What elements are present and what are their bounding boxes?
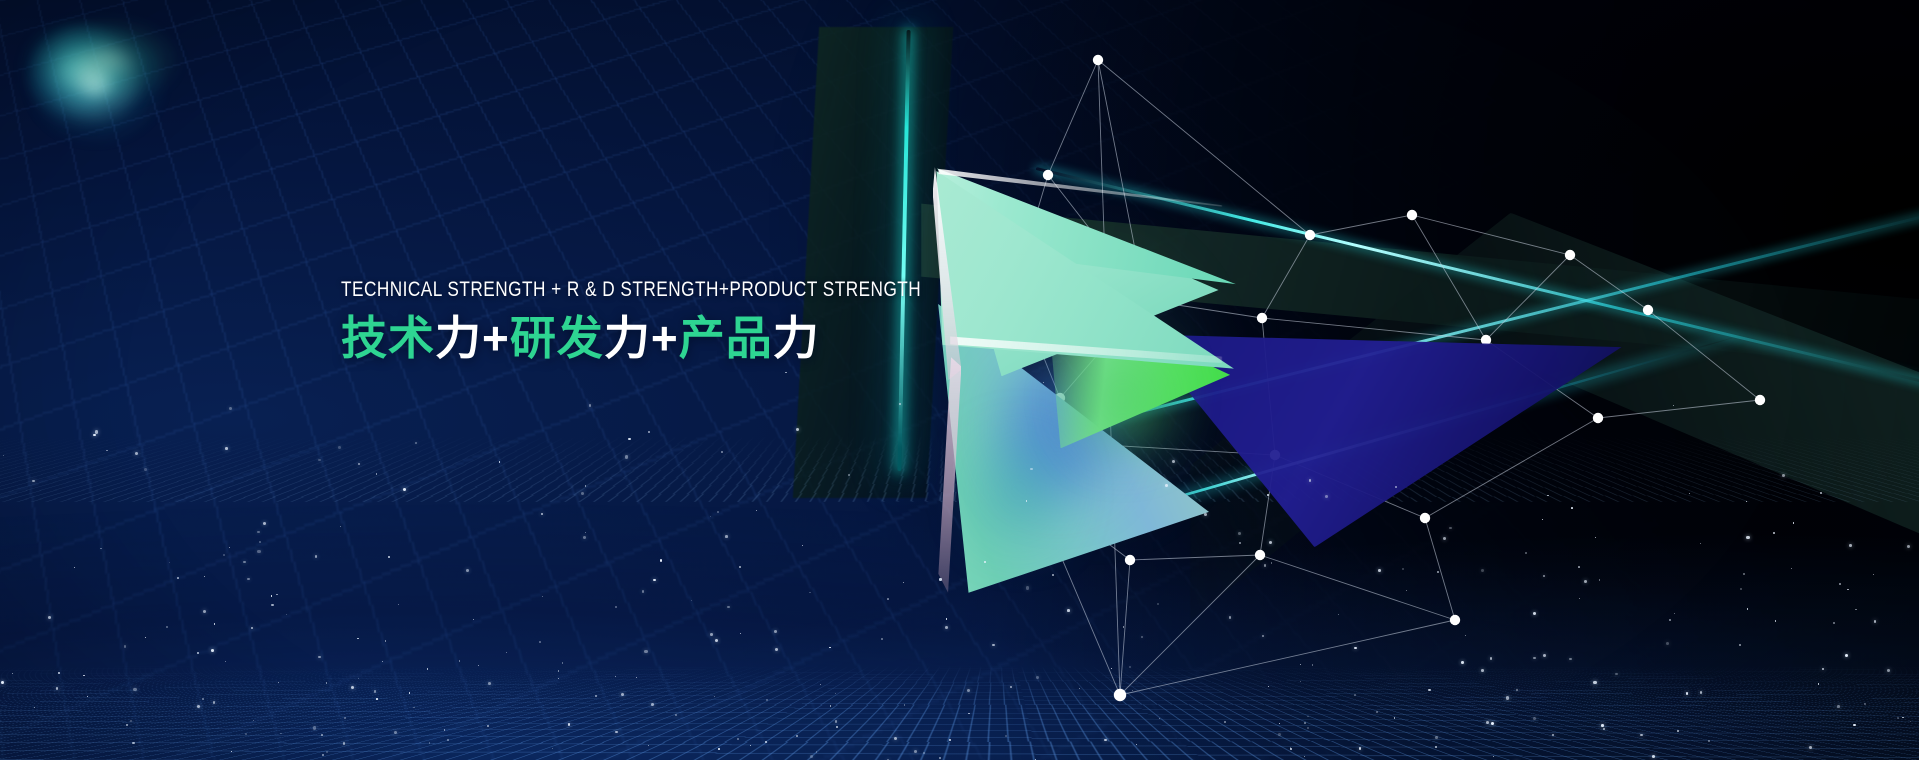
particle-dots: [0, 0, 1919, 760]
headline-seg-7: 产品: [679, 312, 773, 364]
headline-seg-2: 力: [435, 312, 482, 364]
hero-banner: TECHNICAL STRENGTH + R & D STRENGTH+PROD…: [0, 0, 1919, 760]
headline-text-block: TECHNICAL STRENGTH + R & D STRENGTH+PROD…: [341, 278, 1101, 365]
headline-seg-6: +: [651, 312, 679, 364]
headline-seg-3: +: [482, 312, 510, 364]
page-title: 技术力+研发力+产品力: [341, 311, 1101, 365]
headline-seg-4: 研发: [510, 312, 604, 364]
headline-seg-1: 技术: [341, 312, 435, 364]
eyebrow-subtitle: TECHNICAL STRENGTH + R & D STRENGTH+PROD…: [341, 278, 949, 302]
headline-seg-5: 力: [604, 312, 651, 364]
headline-seg-8: 力: [773, 312, 820, 364]
